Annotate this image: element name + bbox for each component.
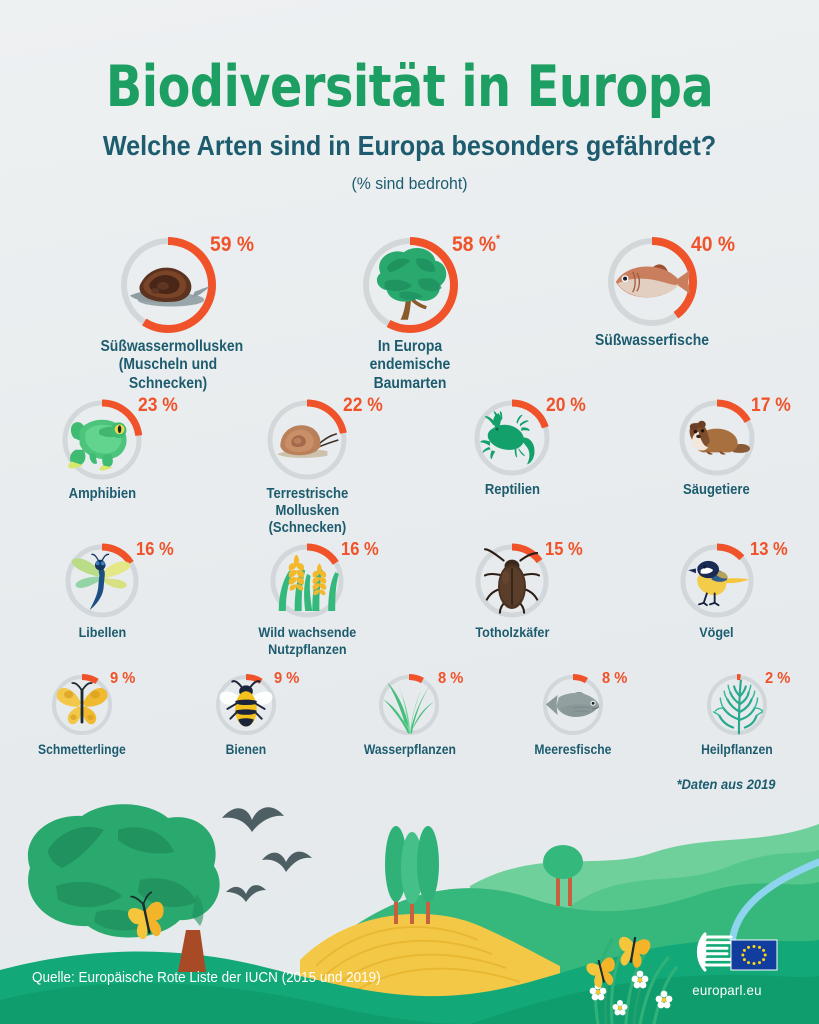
- percentage-value: 59 %: [210, 233, 254, 257]
- page-subtitle: Welche Arten sind in Europa besonders ge…: [41, 130, 778, 162]
- donut-track: [218, 677, 274, 733]
- percentage-value: 16 %: [341, 539, 379, 560]
- donut-gauge: 8 %: [376, 672, 442, 738]
- species-label: Reptilien: [448, 482, 576, 499]
- donut-gauge: 9 %: [49, 672, 115, 738]
- header: Biodiversität in Europa Welche Arten sin…: [0, 0, 819, 194]
- species-card[interactable]: 40 %Süßwasserfische: [577, 236, 727, 393]
- species-label: Totholzkäfer: [448, 624, 576, 641]
- species-label: Süßwassermollusken (Muscheln und Schneck…: [100, 338, 235, 393]
- percentage-value: 8 %: [602, 670, 627, 688]
- percentage-value: 9 %: [274, 670, 299, 688]
- percentage-value: 40 %: [691, 233, 735, 257]
- donut-track: [709, 677, 765, 733]
- species-label: Meeresfische: [518, 742, 629, 758]
- species-row-3: 16 %Libellen: [0, 542, 819, 657]
- infographic-root: Biodiversität in Europa Welche Arten sin…: [0, 0, 819, 1024]
- species-card[interactable]: 2 %Heilpflanzen: [675, 672, 799, 758]
- species-label: Heilpflanzen: [681, 742, 792, 758]
- species-label: Wasserpflanzen: [354, 742, 465, 758]
- species-label: In Europa endemische Baumarten: [342, 338, 477, 393]
- species-card[interactable]: 16 %Wild wachsende Nutzpflanzen: [236, 542, 379, 657]
- percentage-value: 17 %: [751, 395, 791, 417]
- donut-gauge: 8 %: [540, 672, 606, 738]
- donut-gauge: 15 %: [473, 542, 551, 620]
- brand-block: europarl.eu: [671, 929, 783, 998]
- donut-gauge: 16 %: [268, 542, 346, 620]
- percentage-value: 13 %: [750, 539, 788, 560]
- oak-tree: [28, 804, 220, 972]
- percentage-value: 15 %: [545, 539, 583, 560]
- donut-gauge: 58 %*: [361, 236, 459, 334]
- donut-gauge: 40 %: [606, 236, 698, 328]
- european-parliament-logo: [671, 929, 783, 975]
- source-text: Quelle: Europäische Rote Liste der IUCN …: [32, 970, 381, 986]
- species-card[interactable]: 58 %*In Europa endemische Baumarten: [335, 236, 485, 393]
- birds: [222, 807, 312, 902]
- species-label: Vögel: [652, 624, 780, 641]
- species-card[interactable]: 22 %Terrestrische Mollusken (Schnecken): [236, 398, 379, 537]
- data-year-footnote: *Daten aus 2019: [676, 776, 775, 792]
- species-label: Wild wachsende Nutzpflanzen: [243, 624, 371, 657]
- percentage-value: 16 %: [136, 539, 174, 560]
- landscape-illustration: Quelle: Europäische Rote Liste der IUCN …: [0, 794, 819, 1024]
- species-card[interactable]: 15 %Totholzkäfer: [441, 542, 584, 657]
- species-card[interactable]: 17 %Säugetiere: [645, 398, 788, 537]
- species-label: Süßwasserfische: [584, 332, 719, 350]
- page-title: Biodiversität in Europa: [29, 58, 791, 118]
- donut-gauge: 23 %: [60, 398, 144, 482]
- species-label: Terrestrische Mollusken (Schnecken): [243, 486, 371, 537]
- species-card[interactable]: 9 %Schmetterlinge: [20, 672, 144, 758]
- brand-url: europarl.eu: [674, 982, 780, 998]
- species-row-2: 23 %Amphibien 22 %Terrestrische Molluske…: [0, 398, 819, 537]
- species-card[interactable]: 8 %Wasserpflanzen: [348, 672, 472, 758]
- footnote-asterisk: *: [496, 234, 500, 246]
- species-row-1: 59 %Süßwassermollusken (Muscheln und Sch…: [0, 236, 819, 393]
- percentage-value: 2 %: [765, 670, 790, 688]
- percentage-value: 23 %: [138, 395, 178, 417]
- species-card[interactable]: 16 %Libellen: [31, 542, 174, 657]
- percentage-value: 58 %*: [452, 233, 500, 257]
- donut-gauge: 59 %: [119, 236, 217, 334]
- species-card[interactable]: 59 %Süßwassermollusken (Muscheln und Sch…: [93, 236, 243, 393]
- percentage-value: 22 %: [343, 395, 383, 417]
- percentage-value: 8 %: [438, 670, 463, 688]
- species-label: Amphibien: [38, 486, 166, 503]
- species-label: Säugetiere: [652, 482, 780, 499]
- donut-gauge: 20 %: [472, 398, 552, 478]
- species-row-4: 9 %Schmetterlinge 9 %Bienen 8 %Wasse: [0, 672, 819, 758]
- species-label: Schmetterlinge: [26, 742, 137, 758]
- percentage-value: 9 %: [110, 670, 135, 688]
- page-subnote: (% sind bedroht): [29, 174, 791, 194]
- donut-track: [54, 677, 110, 733]
- species-card[interactable]: 20 %Reptilien: [441, 398, 584, 537]
- donut-gauge: 22 %: [265, 398, 349, 482]
- species-card[interactable]: 23 %Amphibien: [31, 398, 174, 537]
- species-card[interactable]: 8 %Meeresfische: [511, 672, 635, 758]
- species-label: Libellen: [38, 624, 166, 641]
- species-card[interactable]: 13 %Vögel: [645, 542, 788, 657]
- species-card[interactable]: 9 %Bienen: [184, 672, 308, 758]
- donut-gauge: 17 %: [677, 398, 757, 478]
- donut-gauge: 9 %: [213, 672, 279, 738]
- donut-track: [381, 677, 437, 733]
- donut-gauge: 16 %: [63, 542, 141, 620]
- donut-gauge: 13 %: [678, 542, 756, 620]
- donut-gauge: 2 %: [704, 672, 770, 738]
- percentage-value: 20 %: [546, 395, 586, 417]
- species-label: Bienen: [190, 742, 301, 758]
- donut-track: [545, 677, 601, 733]
